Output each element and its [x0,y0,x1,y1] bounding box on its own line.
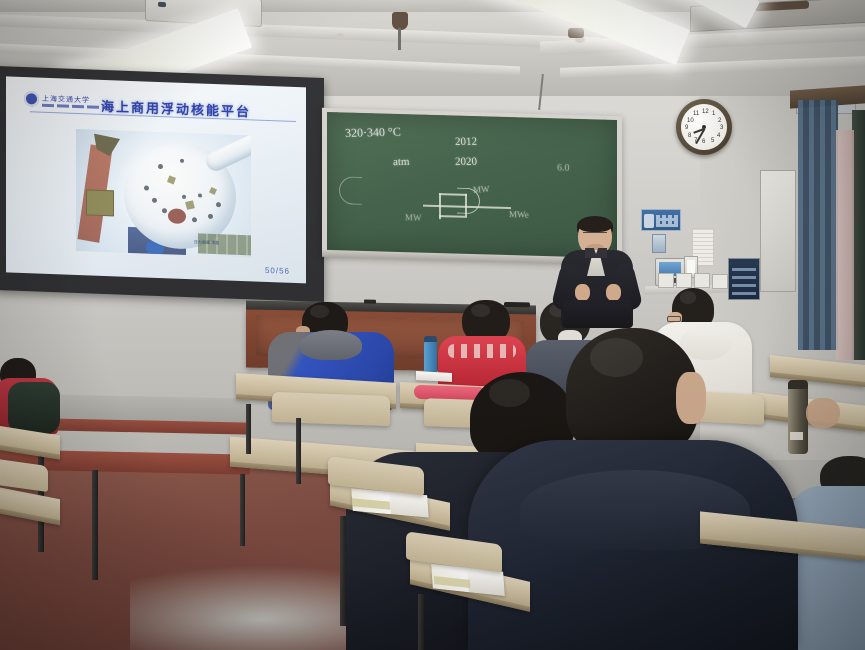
clock-number-1: 1 [712,111,715,117]
smoke-detector-icon [336,33,344,39]
clock-face: 12 1 2 3 4 5 6 7 8 9 10 11 [681,104,727,150]
chalk-diagram-bottom [439,215,465,217]
vessel-fitting [209,187,217,195]
slide-instrument-box [86,189,114,216]
clock-number-3: 3 [720,125,723,131]
student-far-left-backpack [8,382,60,434]
ceiling-speaker-2 [568,28,584,38]
student-light-right-body [790,486,865,650]
desk-leg [240,474,245,546]
wall-panel-right [760,170,796,292]
chalk-diagram-arc-left [339,176,362,205]
power-outlet[interactable] [694,273,710,288]
clock-number-2: 2 [718,118,721,124]
classroom-photo: 上海交通大学 海上商用浮动核能平台 [0,0,865,650]
desk-leg [418,594,424,650]
clock-center-pin [702,125,706,129]
projection-screen: 上海交通大学 海上商用浮动核能平台 [0,66,324,302]
speaker-stem [398,28,401,50]
vessel-fitting [167,175,176,184]
chalk-note: 2012 [455,136,477,148]
thermos-label [790,432,803,440]
desk-leg [340,516,346,626]
evacuation-sign-text [656,215,678,227]
student-right-hand [806,398,840,428]
hair-highlight [590,338,643,376]
clock-number-6: 6 [702,139,705,145]
clock-number-5: 5 [711,138,714,144]
lecture-chair[interactable] [272,392,390,426]
vessel-port [208,214,213,219]
slide-photograph: 压力容器 顶盖 [76,129,251,257]
lecturer-right-hand [606,284,621,301]
jacket-hood [300,330,362,360]
lecturer-lower-jacket [563,300,631,328]
vessel-port [152,198,157,203]
chalk-note: MWe [509,209,529,220]
vessel-port [192,217,197,222]
ceiling-beam-left [0,14,600,49]
hair-highlight [310,305,328,318]
vessel-port [216,202,221,207]
thermos-cap[interactable] [788,380,808,389]
lecturer-eyeglasses-icon [583,232,607,238]
clock-number-8: 8 [688,133,691,139]
hair-highlight [680,291,697,304]
jacket-collar-trim [448,344,516,358]
clock-number-4: 4 [717,133,720,139]
slide-vessel-nozzle [203,131,251,174]
chalk-note: MW [405,212,422,222]
blackboard-frame: 320·340 °C 2012 atm 2020 6.0 MW MWe MW [322,108,622,264]
podium-equipment [504,302,530,307]
thermos-bottle[interactable] [788,386,808,454]
clock-number-10: 10 [687,118,694,124]
desk-leg [246,404,251,454]
hair-highlight [471,304,490,317]
vessel-fitting [185,200,195,210]
power-outlet[interactable] [676,273,692,288]
chalk-note: 320·340 °C [345,125,402,141]
student-navy-hoodie-ear-neck [676,372,706,424]
university-logo-icon [24,91,39,107]
vessel-port [144,185,149,190]
clock-number-9: 9 [685,125,688,131]
projector-lens-icon [158,2,166,7]
window-curtain-blue [798,100,838,350]
evacuation-sign-logo-icon [644,214,654,228]
vessel-port [182,195,186,199]
clock-number-12: 12 [702,109,709,115]
vessel-center-port [168,208,186,224]
lecturer-left-hand [575,284,590,301]
window-curtain-sheer [836,130,854,360]
safety-poster-text [732,264,756,295]
desk-leg [92,470,98,580]
power-outlet[interactable] [712,274,728,289]
vessel-port [158,164,163,169]
wall-notice-small [652,234,666,253]
chalk-note: 6.0 [557,162,570,173]
open-textbook[interactable] [416,371,452,382]
lecturer-hairline [578,217,612,232]
light-switch-toggles[interactable] [687,260,695,274]
projected-slide: 上海交通大学 海上商用浮动核能平台 [6,76,306,283]
blackboard: 320·340 °C 2012 atm 2020 6.0 MW MWe MW [327,112,617,260]
desk-leg [296,418,301,484]
clock-number-11: 11 [693,111,699,117]
hair-highlight [489,379,531,407]
power-outlet[interactable] [658,273,674,288]
chalk-note: 2020 [455,156,477,168]
vessel-port [180,159,184,163]
slide-photo-caption: 压力容器 顶盖 [194,239,242,249]
wall-clock: 12 1 2 3 4 5 6 7 8 9 10 11 [676,99,732,155]
hoodie-hood [680,326,732,360]
emergency-evacuation-sign [641,209,681,231]
water-bottle-cap[interactable] [424,336,437,342]
ceiling-beam-right2 [560,56,865,78]
slide-page-number: 50/56 [220,264,290,276]
vessel-port [198,193,202,197]
chalk-diagram-loop [457,188,480,215]
chalk-note: atm [393,156,410,168]
safety-poster [728,258,760,300]
vessel-port [162,208,167,213]
podium-microphone [364,300,376,304]
